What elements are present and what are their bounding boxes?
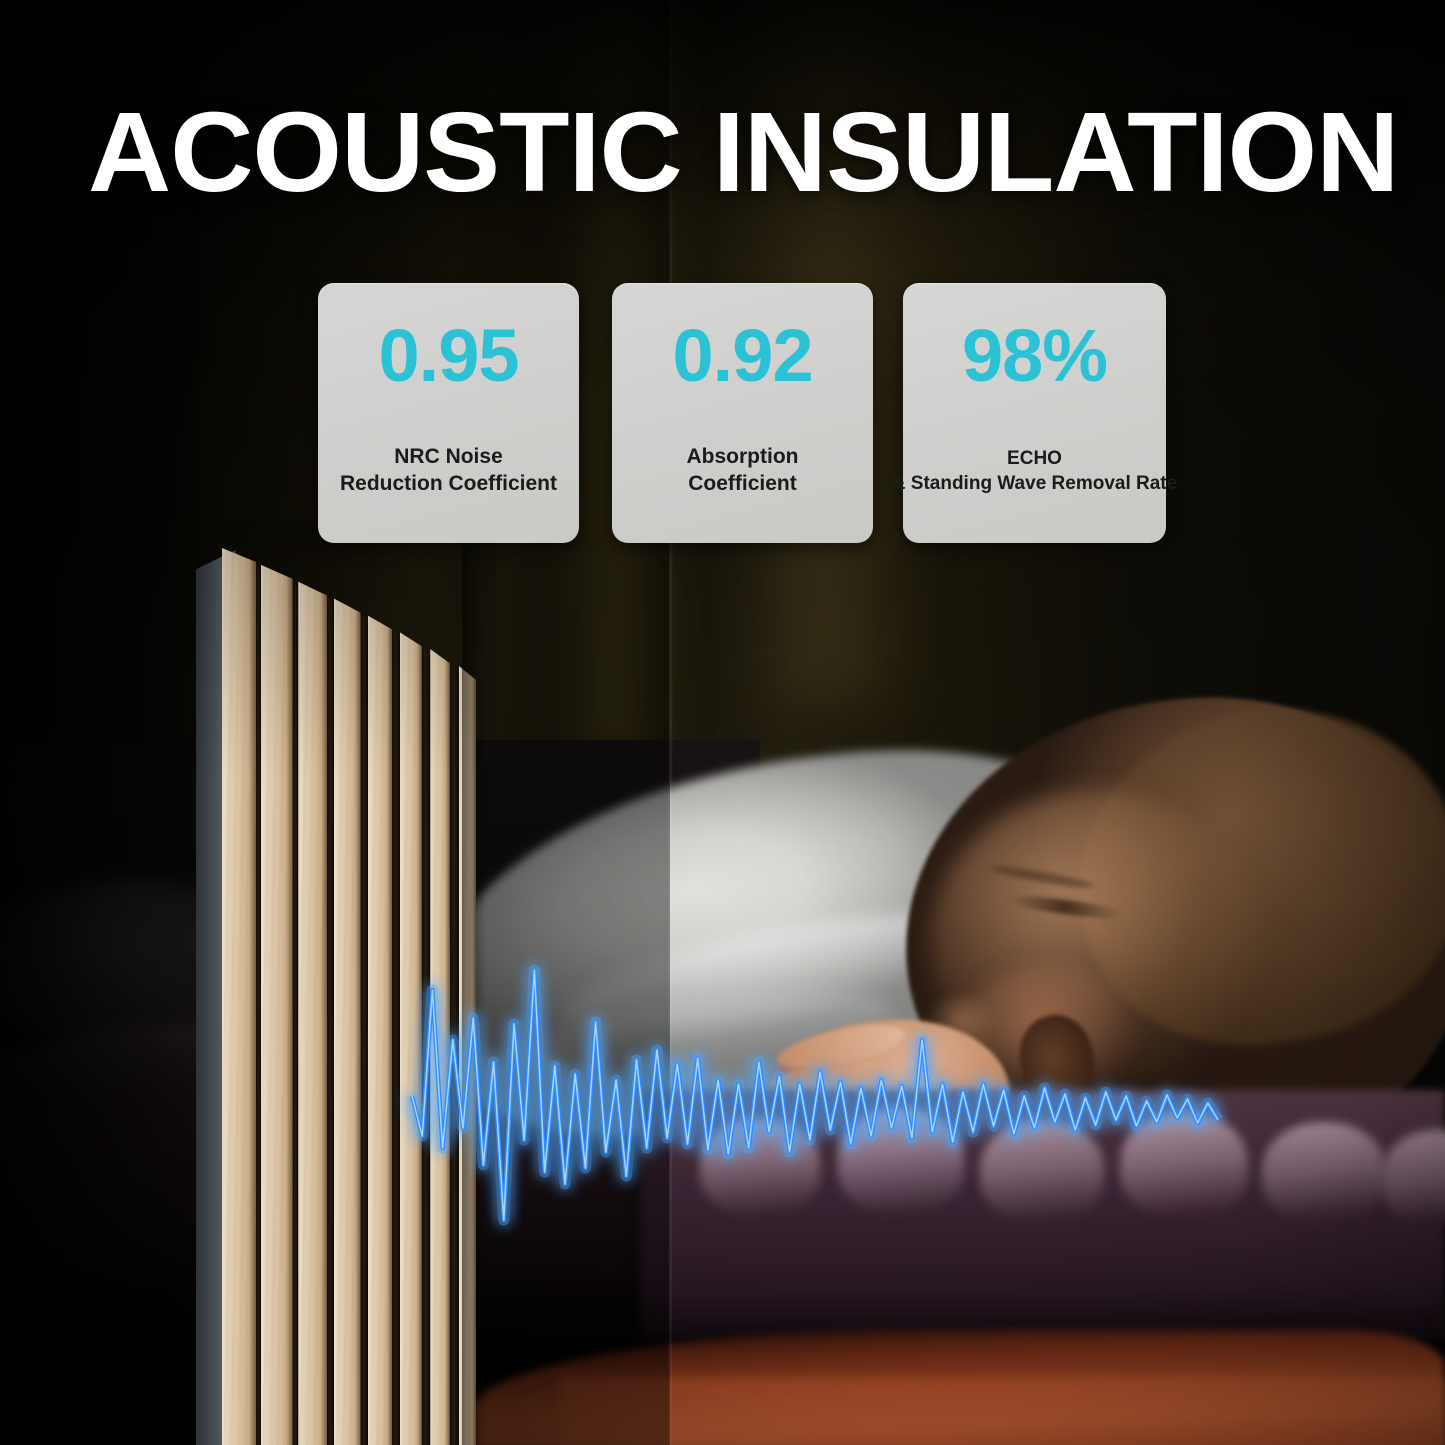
product-marketing-image: ACOUSTIC INSULATION 0.95 NRC Noise Reduc… (0, 0, 1445, 1445)
stat-label: Absorption Coefficient (594, 443, 891, 498)
stat-label: NRC Noise Reduction Coefficient (300, 443, 597, 498)
stat-card-nrc: 0.95 NRC Noise Reduction Coefficient (318, 283, 579, 543)
stat-value: 0.92 (612, 319, 873, 393)
stat-value: 98% (903, 319, 1166, 393)
stat-card-absorption: 0.92 Absorption Coefficient (612, 283, 873, 543)
stat-value: 0.95 (318, 319, 579, 393)
stat-card-group: 0.95 NRC Noise Reduction Coefficient 0.9… (0, 0, 1445, 1445)
stat-label: ECHO & Standing Wave Removal Rate (877, 447, 1192, 496)
stat-card-echo: 98% ECHO & Standing Wave Removal Rate (903, 283, 1166, 543)
